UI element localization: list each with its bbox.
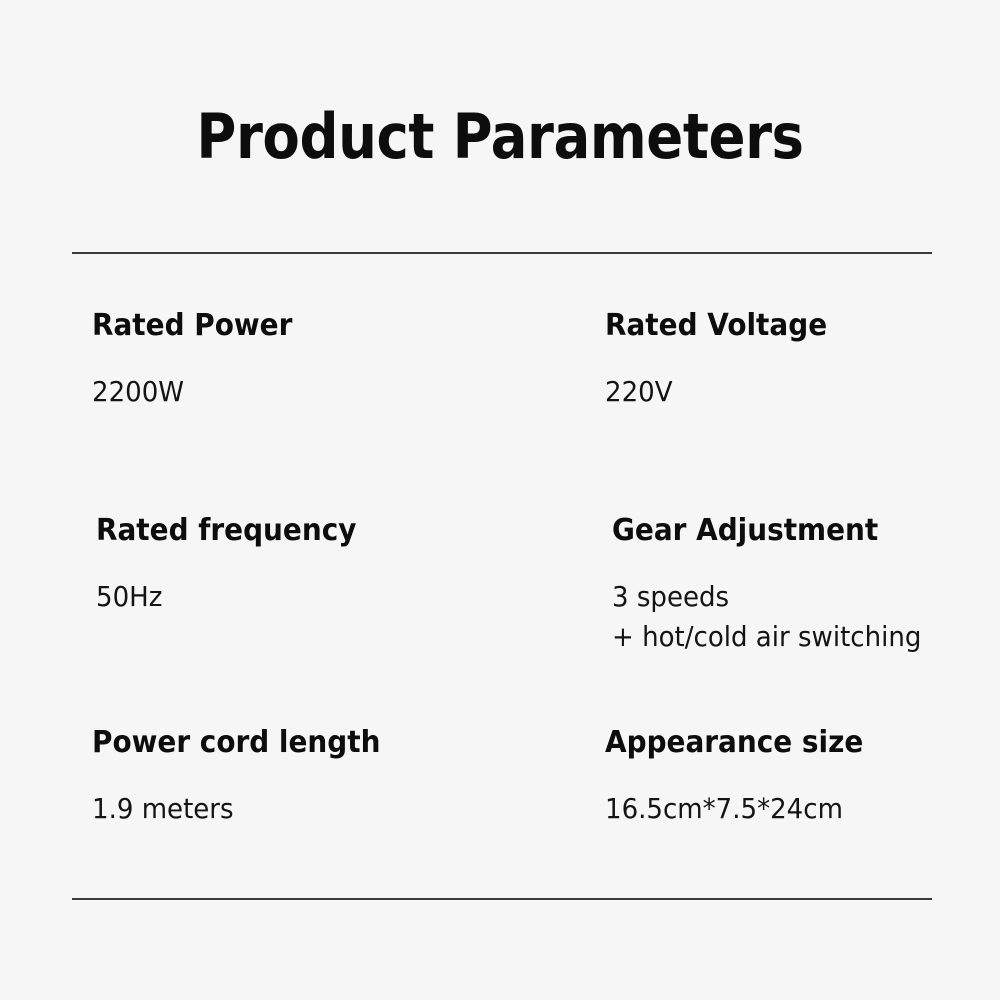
divider-bottom (72, 898, 932, 900)
spec-value-line: 3 speeds (612, 577, 1000, 617)
spec-value: 220V (605, 372, 996, 412)
spec-item-gear-adjustment: Gear Adjustment 3 speeds + hot/cold air … (605, 513, 1000, 657)
spec-label: Gear Adjustment (612, 513, 1000, 549)
spec-value: 2200W (92, 372, 483, 412)
spec-item-power-cord-length: Power cord length 1.9 meters (92, 725, 512, 829)
spec-grid: Rated Power 2200W Rated Voltage 220V Rat… (0, 252, 1000, 898)
spec-item-appearance-size: Appearance size 16.5cm*7.5*24cm (605, 725, 1000, 829)
spec-label: Appearance size (605, 725, 996, 761)
spec-item-rated-frequency: Rated frequency 50Hz (92, 513, 516, 617)
spec-value: 50Hz (96, 577, 487, 617)
spec-item-rated-voltage: Rated Voltage 220V (605, 308, 1000, 412)
spec-label: Rated frequency (96, 513, 487, 549)
spec-value-line: + hot/cold air switching (612, 617, 1000, 657)
spec-label: Power cord length (92, 725, 483, 761)
spec-value-line: 50Hz (96, 577, 487, 617)
product-parameters-page: Product Parameters Rated Power 2200W Rat… (0, 0, 1000, 1000)
page-title: Product Parameters (60, 98, 940, 176)
spec-value: 3 speeds + hot/cold air switching (612, 577, 1000, 657)
spec-value-line: 220V (605, 372, 996, 412)
spec-value: 16.5cm*7.5*24cm (605, 789, 996, 829)
spec-value-line: 16.5cm*7.5*24cm (605, 789, 996, 829)
spec-value-line: 1.9 meters (92, 789, 483, 829)
spec-value-line: 2200W (92, 372, 483, 412)
spec-item-rated-power: Rated Power 2200W (92, 308, 512, 412)
spec-value: 1.9 meters (92, 789, 483, 829)
spec-label: Rated Power (92, 308, 483, 344)
spec-label: Rated Voltage (605, 308, 996, 344)
